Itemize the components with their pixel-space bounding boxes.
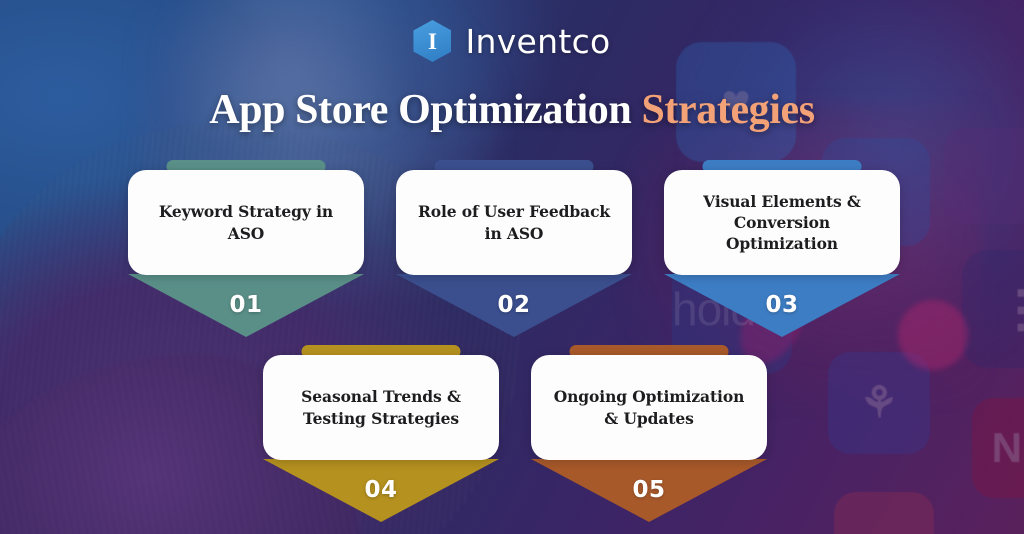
strategy-card-03[interactable]: Visual Elements &Conversion Optimization… <box>664 160 900 337</box>
logo-letter: I <box>428 30 437 53</box>
strategy-card-05[interactable]: Ongoing Optimization& Updates05 <box>531 345 767 522</box>
card-title: Role of User Feedbackin ASO <box>418 201 610 243</box>
hexagon-logo-icon: I <box>413 20 451 62</box>
card-number: 03 <box>664 292 900 318</box>
dots-app-icon: ⋮ <box>962 250 1024 368</box>
card-number: 05 <box>531 477 767 503</box>
card-body: Role of User Feedbackin ASO <box>396 170 632 275</box>
card-body: Keyword Strategy inASO <box>128 170 364 275</box>
card-row-bottom: Seasonal Trends &Testing Strategies04Ong… <box>263 345 767 522</box>
card-title-line: Visual Elements & <box>676 191 888 212</box>
nd-brand-app-icon: ND <box>972 398 1024 498</box>
card-chevron-wrap: 03 <box>664 274 900 337</box>
card-body: Ongoing Optimization& Updates <box>531 355 767 460</box>
dots-app-icon-glyph: ⋮ <box>962 250 1024 368</box>
card-body: Visual Elements &Conversion Optimization <box>664 170 900 275</box>
card-title-line: Testing Strategies <box>301 408 461 429</box>
card-title-line: & Updates <box>554 408 745 429</box>
card-chevron-wrap: 04 <box>263 459 499 522</box>
nd-brand-app-icon-glyph: ND <box>972 398 1024 498</box>
card-chevron-wrap: 05 <box>531 459 767 522</box>
card-title-line: Keyword Strategy in <box>159 201 333 222</box>
card-number: 04 <box>263 477 499 503</box>
card-body: Seasonal Trends &Testing Strategies <box>263 355 499 460</box>
card-title-line: Ongoing Optimization <box>554 386 745 407</box>
card-number: 01 <box>128 292 364 318</box>
brand-name: Inventco <box>465 22 610 61</box>
strategy-card-04[interactable]: Seasonal Trends &Testing Strategies04 <box>263 345 499 522</box>
swimmer-app-icon: ⚘ <box>828 352 930 454</box>
card-title-line: Seasonal Trends & <box>301 386 461 407</box>
background-blob-pink <box>898 300 968 370</box>
card-title-line: in ASO <box>418 223 610 244</box>
card-title: Visual Elements &Conversion Optimization <box>676 191 888 254</box>
card-number: 02 <box>396 292 632 318</box>
page-title-primary: App Store Optimization <box>209 87 631 133</box>
page-title-accent: Strategies <box>641 87 814 133</box>
card-title-line: ASO <box>159 223 333 244</box>
page-title: App Store Optimization Strategies <box>0 86 1024 134</box>
card-title: Ongoing Optimization& Updates <box>554 386 745 428</box>
card-title-line: Conversion Optimization <box>676 212 888 254</box>
strategy-card-01[interactable]: Keyword Strategy inASO01 <box>128 160 364 337</box>
strategy-card-02[interactable]: Role of User Feedbackin ASO02 <box>396 160 632 337</box>
infographic-canvas: ♥⋮⚘ND hold I Inventco App Store Optimiza… <box>0 0 1024 534</box>
card-chevron-wrap: 02 <box>396 274 632 337</box>
card-title: Seasonal Trends &Testing Strategies <box>301 386 461 428</box>
swimmer-app-icon-glyph: ⚘ <box>828 352 930 454</box>
violet-app-icon <box>944 128 1024 224</box>
card-title-line: Role of User Feedback <box>418 201 610 222</box>
card-row-top: Keyword Strategy inASO01Role of User Fee… <box>128 160 900 337</box>
card-chevron-wrap: 01 <box>128 274 364 337</box>
timer-app-icon <box>834 492 934 534</box>
card-title: Keyword Strategy inASO <box>159 201 333 243</box>
brand-logo: I Inventco <box>0 20 1024 62</box>
